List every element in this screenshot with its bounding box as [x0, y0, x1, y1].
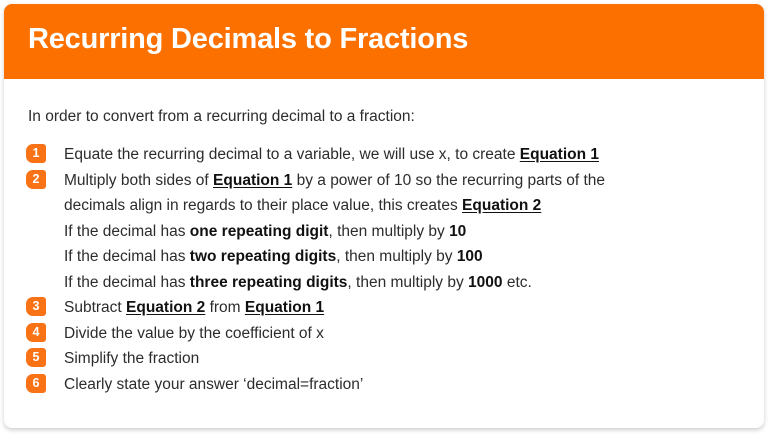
- step-text-segment: Multiply both sides of: [64, 172, 213, 189]
- emphasis-underline: Equation 1: [520, 146, 599, 163]
- step-text: If the decimal has one repeating digit, …: [64, 219, 746, 245]
- emphasis-bold: 10: [449, 223, 466, 240]
- step-number-badge: 6: [26, 374, 46, 393]
- card-body: In order to convert from a recurring dec…: [4, 79, 764, 428]
- step-row: 6Clearly state your answer ‘decimal=frac…: [26, 372, 746, 398]
- step-row: 3Subtract Equation 2 from Equation 1: [26, 295, 746, 321]
- step-row: 1Equate the recurring decimal to a varia…: [26, 142, 746, 168]
- step-number-badge: 5: [26, 348, 46, 367]
- step-text-segment: If the decimal has: [64, 223, 190, 240]
- step-text-segment: Simplify the fraction: [64, 350, 199, 367]
- step-text: Equate the recurring decimal to a variab…: [64, 142, 746, 168]
- lesson-card: Recurring Decimals to Fractions In order…: [4, 4, 764, 428]
- step-badge-spacer: [26, 195, 46, 214]
- card-header: Recurring Decimals to Fractions: [4, 4, 764, 79]
- emphasis-bold: three repeating digits: [190, 274, 348, 291]
- step-row: decimals align in regards to their place…: [26, 193, 746, 219]
- step-number-badge: 1: [26, 144, 46, 163]
- emphasis-bold: two repeating digits: [190, 248, 336, 265]
- step-text-segment: , then multiply by: [328, 223, 449, 240]
- intro-text: In order to convert from a recurring dec…: [28, 108, 415, 126]
- step-text-segment: If the decimal has: [64, 248, 190, 265]
- step-row: If the decimal has three repeating digit…: [26, 270, 746, 296]
- step-text: If the decimal has two repeating digits,…: [64, 244, 746, 270]
- step-text-segment: decimals align in regards to their place…: [64, 197, 462, 214]
- step-text-segment: Equate the recurring decimal to a variab…: [64, 146, 520, 163]
- step-text-segment: , then multiply by: [336, 248, 457, 265]
- step-number-badge: 3: [26, 297, 46, 316]
- step-text-segment: etc.: [503, 274, 532, 291]
- step-text-segment: , then multiply by: [347, 274, 468, 291]
- step-text-segment: If the decimal has: [64, 274, 190, 291]
- step-text: Subtract Equation 2 from Equation 1: [64, 295, 746, 321]
- step-text: If the decimal has three repeating digit…: [64, 270, 746, 296]
- step-badge-spacer: [26, 221, 46, 240]
- step-text: Multiply both sides of Equation 1 by a p…: [64, 168, 746, 194]
- step-badge-spacer: [26, 246, 46, 265]
- step-text: decimals align in regards to their place…: [64, 193, 746, 219]
- steps-list: 1Equate the recurring decimal to a varia…: [26, 142, 746, 397]
- step-text-segment: Divide the value by the coefficient of x: [64, 325, 324, 342]
- emphasis-underline: Equation 1: [245, 299, 324, 316]
- emphasis-bold: 1000: [468, 274, 502, 291]
- step-number-badge: 4: [26, 323, 46, 342]
- step-text-segment: by a power of 10 so the recurring parts …: [292, 172, 605, 189]
- step-row: 2Multiply both sides of Equation 1 by a …: [26, 168, 746, 194]
- step-badge-spacer: [26, 272, 46, 291]
- page-title: Recurring Decimals to Fractions: [28, 23, 468, 56]
- step-text-segment: from: [205, 299, 245, 316]
- step-text: Divide the value by the coefficient of x: [64, 321, 746, 347]
- emphasis-underline: Equation 2: [462, 197, 541, 214]
- step-text-segment: Subtract: [64, 299, 126, 316]
- step-row: 4Divide the value by the coefficient of …: [26, 321, 746, 347]
- emphasis-bold: one repeating digit: [190, 223, 329, 240]
- step-row: If the decimal has one repeating digit, …: [26, 219, 746, 245]
- step-number-badge: 2: [26, 170, 46, 189]
- step-text-segment: Clearly state your answer ‘decimal=fract…: [64, 376, 363, 393]
- step-row: If the decimal has two repeating digits,…: [26, 244, 746, 270]
- step-row: 5Simplify the fraction: [26, 346, 746, 372]
- step-text: Clearly state your answer ‘decimal=fract…: [64, 372, 746, 398]
- emphasis-underline: Equation 1: [213, 172, 292, 189]
- step-text: Simplify the fraction: [64, 346, 746, 372]
- emphasis-underline: Equation 2: [126, 299, 205, 316]
- emphasis-bold: 100: [457, 248, 483, 265]
